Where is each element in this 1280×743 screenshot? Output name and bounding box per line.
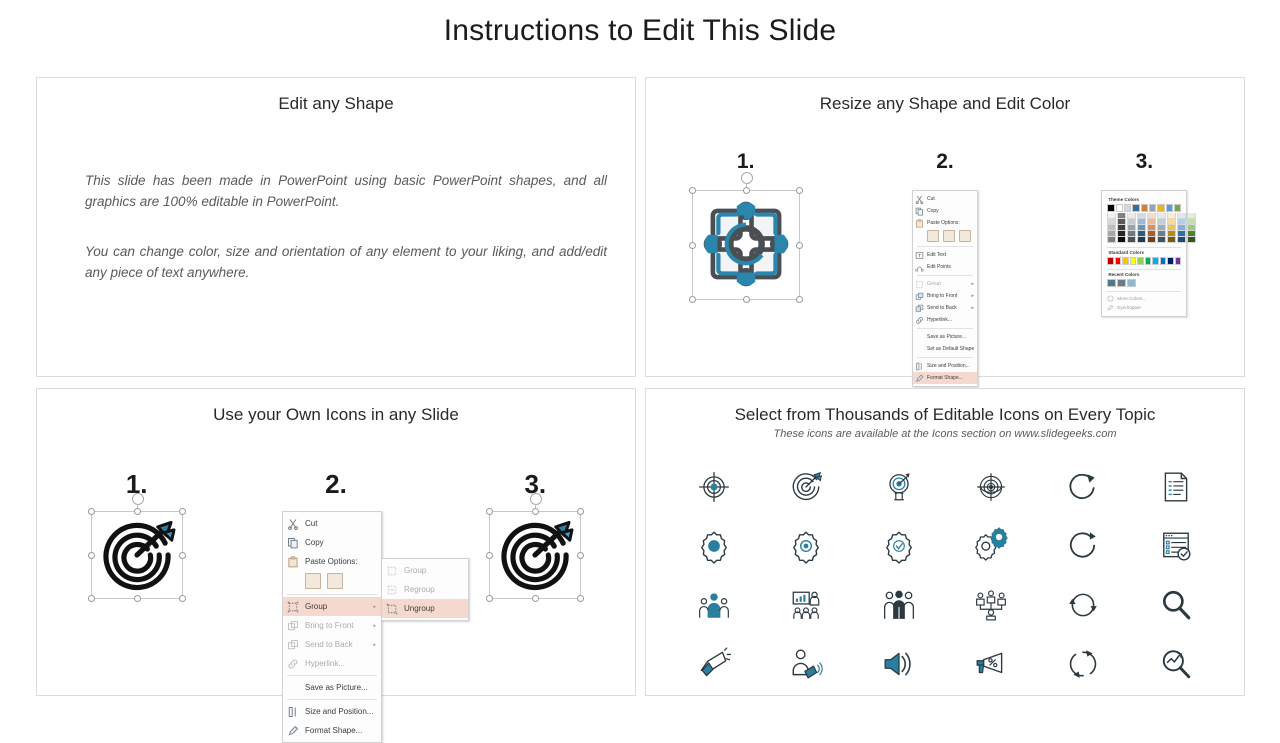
palette-divider — [1107, 247, 1181, 248]
format-shape-icon — [287, 725, 299, 737]
handle-w[interactable] — [88, 552, 95, 559]
handle-sw[interactable] — [88, 595, 95, 602]
ctx-label: Bring to Front — [305, 621, 370, 630]
regroup-icon — [386, 584, 398, 596]
ctx-label: Set as Default Shape — [927, 346, 974, 352]
handle-s[interactable] — [743, 296, 750, 303]
paste-picture-icon[interactable] — [959, 230, 971, 242]
handle-sw[interactable] — [486, 595, 493, 602]
panel-subtitle-editable-icons: These icons are available at the Icons s… — [646, 428, 1244, 440]
paste-picture-icon[interactable] — [327, 573, 343, 589]
hyperlink-icon — [287, 658, 299, 670]
step-number-1: 1. — [646, 150, 845, 174]
gears-pair-icon[interactable] — [974, 529, 1008, 563]
ctx-label: Group — [927, 281, 968, 287]
handle-e[interactable] — [796, 242, 803, 249]
panel-title-own-icons: Use your Own Icons in any Slide — [37, 405, 635, 425]
submenu-item-group[interactable]: Group — [382, 561, 468, 580]
ctx-label: Regroup — [404, 585, 463, 594]
scissors-icon — [287, 518, 299, 530]
standard-swatch[interactable] — [1152, 257, 1159, 265]
slide-canvas: Instructions to Edit This Slide Edit any… — [0, 0, 1280, 720]
format-shape-icon — [915, 374, 924, 383]
theme-swatch[interactable] — [1174, 204, 1181, 212]
paste-option-buttons[interactable] — [283, 571, 381, 592]
submenu-arrow-icon: ▸ — [968, 281, 974, 287]
ctx-label: Hyperlink... — [927, 317, 974, 323]
ctx-item-save-as-picture[interactable]: Save as Picture... — [913, 331, 977, 343]
standard-colors-label: Standard Colors — [1108, 250, 1181, 255]
person-megaphone-icon[interactable] — [789, 647, 823, 681]
ctx-item-bring-to-front[interactable]: Bring to Front ▸ — [283, 616, 381, 635]
rotate-handle[interactable] — [530, 493, 542, 505]
group-icon — [287, 601, 299, 613]
paste-option-buttons[interactable] — [913, 229, 977, 244]
ctx-label: Copy — [927, 208, 974, 214]
ctx-item-bring-to-front[interactable]: Bring to Front ▸ — [913, 290, 977, 302]
ctx-label: Group — [305, 602, 370, 611]
palette-divider — [1107, 291, 1181, 292]
presentation-team-icon[interactable] — [789, 588, 823, 622]
ctx-label: Cut — [305, 519, 376, 528]
standard-swatch[interactable] — [1175, 257, 1182, 265]
resize-step-numbers: 1. 2. 3. — [646, 150, 1244, 174]
ungroup-icon — [386, 603, 398, 615]
document-list-icon[interactable] — [1159, 470, 1193, 504]
ctx-label: Copy — [305, 538, 376, 547]
shape-selection-box[interactable] — [692, 190, 800, 300]
crosshair-target-icon[interactable] — [697, 470, 731, 504]
standard-colors-row[interactable] — [1107, 257, 1181, 265]
handle-se[interactable] — [179, 595, 186, 602]
tint-column[interactable] — [1137, 213, 1146, 243]
standard-swatch[interactable] — [1137, 257, 1144, 265]
refresh-circle-icon[interactable] — [1066, 529, 1100, 563]
own-icons-figure-1 — [37, 511, 236, 599]
send-back-icon — [915, 304, 924, 313]
panel-title-edit-shape: Edit any Shape — [37, 94, 635, 114]
analysis-magnifier-icon[interactable] — [1159, 647, 1193, 681]
paste-merge-formatting-icon[interactable] — [943, 230, 955, 242]
handle-n[interactable] — [134, 508, 141, 515]
panel-own-icons: Use your Own Icons in any Slide 1. 2. 3. — [36, 388, 636, 696]
handle-w[interactable] — [689, 242, 696, 249]
color-palette-popup[interactable]: Theme Colors — [1101, 190, 1187, 317]
standard-swatch[interactable] — [1130, 257, 1137, 265]
submenu-item-regroup[interactable]: Regroup — [382, 580, 468, 599]
speaker-icon[interactable] — [882, 647, 916, 681]
tint-column[interactable] — [1107, 213, 1116, 243]
standard-swatch[interactable] — [1122, 257, 1129, 265]
ctx-label: Format Shape... — [305, 726, 376, 735]
standard-swatch[interactable] — [1107, 257, 1114, 265]
ctx-label: Paste Options: — [305, 557, 376, 566]
gear-check-icon[interactable] — [882, 529, 916, 563]
handle-e[interactable] — [179, 552, 186, 559]
panel-edit-any-shape: Edit any Shape This slide has been made … — [36, 77, 636, 377]
target-stand-icon[interactable] — [882, 470, 916, 504]
handle-se[interactable] — [577, 595, 584, 602]
scissors-icon — [915, 195, 924, 204]
target-dart-icon[interactable] — [789, 470, 823, 504]
shape-context-menu[interactable]: Cut Copy Paste Options: — [912, 190, 978, 387]
palette-divider — [1107, 269, 1181, 270]
handle-nw[interactable] — [88, 508, 95, 515]
target-dart-icon — [99, 518, 175, 592]
blank-icon-slot — [287, 682, 299, 694]
ctx-item-format-shape[interactable]: Format Shape... — [283, 721, 381, 740]
target-dart-icon — [497, 518, 573, 592]
ctx-item-size-and-position[interactable]: Size and Position... — [913, 360, 977, 372]
icon-context-menu[interactable]: Cut Copy Paste Options: — [282, 511, 382, 743]
handle-se[interactable] — [796, 296, 803, 303]
ctx-divider — [287, 675, 377, 676]
resize-figure-1 — [646, 190, 845, 300]
submenu-arrow-icon: ▸ — [968, 305, 974, 311]
panel-title-editable-icons: Select from Thousands of Editable Icons … — [646, 405, 1244, 425]
eyedropper-icon — [1107, 304, 1114, 311]
ctx-divider — [287, 699, 377, 700]
handle-e[interactable] — [577, 552, 584, 559]
rotate-handle[interactable] — [741, 172, 753, 184]
ctx-label: Format Shape... — [927, 375, 974, 381]
recent-colors-label: Recent Colors — [1108, 272, 1181, 277]
ctx-item-group[interactable]: Group ▸ — [913, 278, 977, 290]
ctx-label: Paste Options: — [927, 220, 974, 226]
hyperlink-icon — [915, 316, 924, 325]
panel-resize-shape: Resize any Shape and Edit Color 1. 2. 3. — [645, 77, 1245, 377]
size-position-icon — [287, 706, 299, 718]
group-icon — [915, 280, 924, 289]
standard-swatch[interactable] — [1115, 257, 1122, 265]
ctx-item-save-as-picture[interactable]: Save as Picture... — [283, 678, 381, 697]
ctx-item-edit-points[interactable]: Edit Points — [913, 261, 977, 273]
ctx-divider — [917, 328, 973, 329]
magnifier-icon[interactable] — [1159, 588, 1193, 622]
ctx-label: Size and Position... — [305, 707, 376, 716]
checklist-window-icon[interactable] — [1159, 529, 1193, 563]
theme-swatch[interactable] — [1149, 204, 1156, 212]
panel-editable-icons: Select from Thousands of Editable Icons … — [645, 388, 1245, 696]
tint-column[interactable] — [1117, 213, 1126, 243]
ctx-label: Size and Position... — [927, 363, 974, 369]
tint-column[interactable] — [1167, 213, 1176, 243]
ctx-item-group[interactable]: Group ▸ — [283, 597, 381, 616]
more-colors-icon — [1107, 295, 1114, 302]
copy-icon — [287, 537, 299, 549]
theme-swatch[interactable] — [1107, 204, 1114, 212]
ctx-label: Edit Text — [927, 252, 974, 258]
eyedropper-label: Eyedropper — [1117, 305, 1141, 310]
gear-filled-icon[interactable] — [697, 529, 731, 563]
own-icons-step-numbers: 1. 2. 3. — [37, 469, 635, 500]
ctx-item-paste-options[interactable]: Paste Options: — [913, 217, 977, 229]
people-group-icon[interactable] — [697, 588, 731, 622]
ctx-label: Cut — [927, 196, 974, 202]
handle-ne[interactable] — [577, 508, 584, 515]
ctx-label: Send to Back — [927, 305, 968, 311]
theme-swatch[interactable] — [1157, 204, 1164, 212]
step-number-3: 3. — [1045, 150, 1244, 174]
ctx-label: Hyperlink... — [305, 659, 376, 668]
ctx-divider — [917, 275, 973, 276]
recent-colors-row[interactable] — [1107, 279, 1181, 287]
ctx-item-copy[interactable]: Copy — [283, 533, 381, 552]
eyedropper-option[interactable]: Eyedropper — [1107, 303, 1181, 312]
handle-sw[interactable] — [689, 296, 696, 303]
radar-target-icon[interactable] — [974, 470, 1008, 504]
ctx-item-send-to-back[interactable]: Send to Back ▸ — [283, 635, 381, 654]
paste-keep-formatting-icon[interactable] — [927, 230, 939, 242]
theme-swatch[interactable] — [1116, 204, 1123, 212]
tint-column[interactable] — [1187, 213, 1196, 243]
ctx-label: Group — [404, 566, 463, 575]
theme-colors-row[interactable] — [1107, 204, 1181, 212]
theme-swatch[interactable] — [1132, 204, 1139, 212]
edit-text-icon — [915, 251, 924, 260]
ctx-divider — [917, 246, 973, 247]
more-colors-option[interactable]: More Colors... — [1107, 294, 1181, 303]
recent-swatch[interactable] — [1127, 279, 1136, 287]
theme-swatch[interactable] — [1124, 204, 1131, 212]
ctx-label: Send to Back — [305, 640, 370, 649]
resize-figure-3: Theme Colors — [1045, 190, 1244, 317]
submenu-item-ungroup[interactable]: Ungroup — [382, 599, 468, 618]
tint-column[interactable] — [1177, 213, 1186, 243]
theme-tints-grid[interactable] — [1107, 213, 1181, 243]
icon-selection-box-right[interactable] — [489, 511, 581, 599]
ctx-item-edit-text[interactable]: Edit Text — [913, 249, 977, 261]
submenu-arrow-icon: ▸ — [370, 642, 376, 648]
standard-swatch[interactable] — [1160, 257, 1167, 265]
quadrant-shape-icon — [700, 198, 792, 290]
edit-shape-paragraph-1: This slide has been made in PowerPoint u… — [85, 171, 607, 213]
theme-swatch[interactable] — [1166, 204, 1173, 212]
submenu-arrow-icon: ▸ — [968, 293, 974, 299]
team-trio-icon[interactable] — [882, 588, 916, 622]
standard-swatch[interactable] — [1145, 257, 1152, 265]
gear-center-icon[interactable] — [789, 529, 823, 563]
ctx-label: Save as Picture... — [927, 334, 974, 340]
sync-arrows-icon[interactable] — [1066, 588, 1100, 622]
ctx-item-hyperlink[interactable]: Hyperlink... — [283, 654, 381, 673]
ctx-label: Ungroup — [404, 604, 463, 613]
theme-colors-label: Theme Colors — [1108, 197, 1181, 202]
blank-icon-slot — [915, 333, 924, 342]
ctx-item-size-and-position[interactable]: Size and Position... — [283, 702, 381, 721]
icon-selection-box-left[interactable] — [91, 511, 183, 599]
ctx-item-set-default-shape[interactable]: Set as Default Shape — [913, 343, 977, 355]
discount-megaphone-icon[interactable] — [974, 647, 1008, 681]
paste-icon — [915, 219, 924, 228]
page-title: Instructions to Edit This Slide — [0, 14, 1280, 48]
submenu-arrow-icon: ▸ — [370, 623, 376, 629]
handle-ne[interactable] — [796, 187, 803, 194]
handle-n[interactable] — [743, 187, 750, 194]
panel-title-resize-shape: Resize any Shape and Edit Color — [646, 94, 1244, 114]
standard-swatch[interactable] — [1167, 257, 1174, 265]
ctx-item-send-to-back[interactable]: Send to Back ▸ — [913, 302, 977, 314]
group-icon — [386, 565, 398, 577]
bring-front-icon — [287, 620, 299, 632]
blank-icon-slot — [915, 345, 924, 354]
ctx-label: Edit Points — [927, 264, 974, 270]
paste-icon — [287, 556, 299, 568]
bring-front-icon — [915, 292, 924, 301]
more-colors-label: More Colors... — [1117, 296, 1146, 301]
megaphone-icon[interactable] — [697, 647, 731, 681]
step-number-2: 2. — [236, 469, 435, 500]
send-back-icon — [287, 639, 299, 651]
size-position-icon — [915, 362, 924, 371]
group-submenu[interactable]: Group Regroup Ungroup — [381, 558, 469, 621]
step-number-2: 2. — [845, 150, 1044, 174]
handle-s[interactable] — [532, 595, 539, 602]
ctx-item-hyperlink[interactable]: Hyperlink... — [913, 314, 977, 326]
redo-arrow-icon[interactable] — [1066, 470, 1100, 504]
recent-swatch[interactable] — [1107, 279, 1116, 287]
cycle-arrows-icon[interactable] — [1066, 647, 1100, 681]
handle-s[interactable] — [134, 595, 141, 602]
edit-points-icon — [915, 263, 924, 272]
paste-keep-formatting-icon[interactable] — [305, 573, 321, 589]
meeting-network-icon[interactable] — [974, 588, 1008, 622]
handle-ne[interactable] — [179, 508, 186, 515]
ctx-item-paste-options[interactable]: Paste Options: — [283, 552, 381, 571]
icon-gallery-grid — [668, 457, 1222, 693]
ctx-item-cut[interactable]: Cut — [913, 193, 977, 205]
ctx-item-format-shape[interactable]: Format Shape... — [913, 372, 977, 384]
edit-shape-paragraph-2: You can change color, size and orientati… — [85, 242, 607, 284]
tint-column[interactable] — [1127, 213, 1136, 243]
theme-swatch[interactable] — [1141, 204, 1148, 212]
ctx-divider — [287, 594, 377, 595]
ctx-divider — [917, 357, 973, 358]
copy-icon — [915, 207, 924, 216]
ctx-label: Bring to Front — [927, 293, 968, 299]
recent-swatch[interactable] — [1117, 279, 1126, 287]
handle-nw[interactable] — [689, 187, 696, 194]
rotate-handle[interactable] — [132, 493, 144, 505]
submenu-arrow-icon: ▸ — [370, 604, 376, 610]
ctx-label: Save as Picture... — [305, 683, 376, 692]
own-icons-figure-2: Cut Copy Paste Options: — [236, 511, 435, 743]
resize-figure-2: Cut Copy Paste Options: — [845, 190, 1044, 387]
ctx-item-copy[interactable]: Copy — [913, 205, 977, 217]
tint-column[interactable] — [1147, 213, 1156, 243]
tint-column[interactable] — [1157, 213, 1166, 243]
ctx-item-cut[interactable]: Cut — [283, 514, 381, 533]
